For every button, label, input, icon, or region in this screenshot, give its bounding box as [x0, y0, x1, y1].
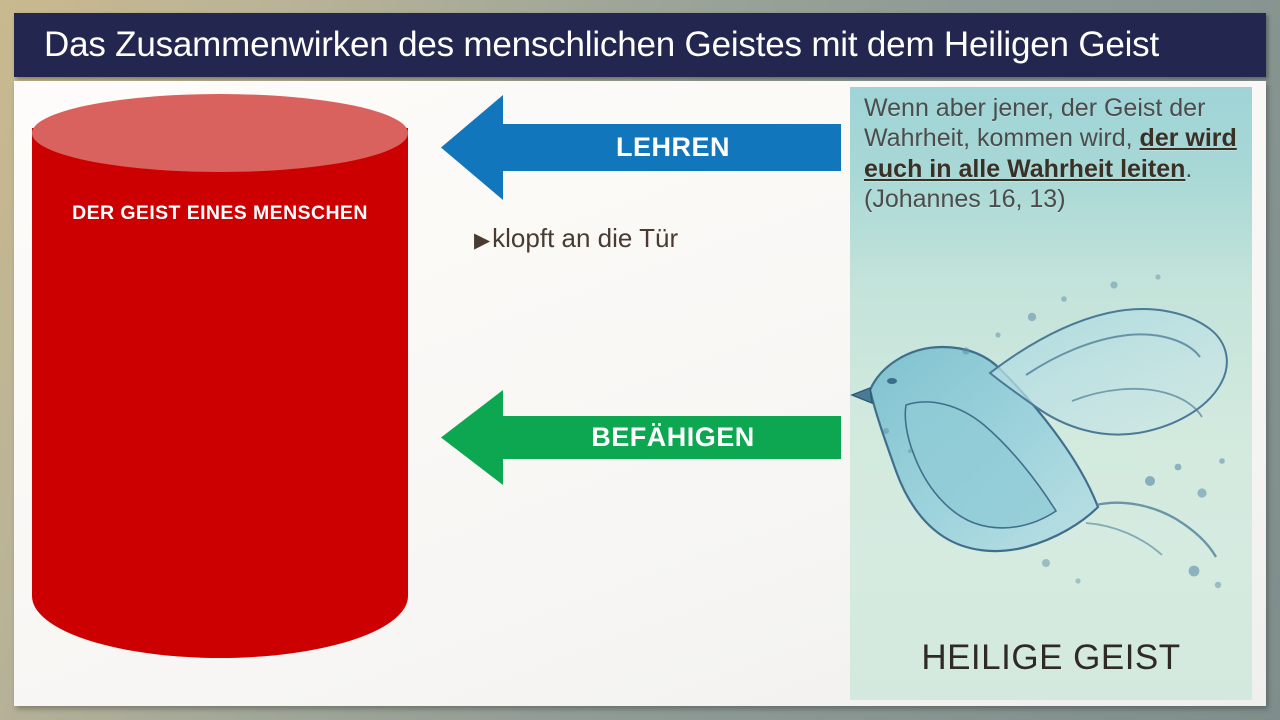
slide-title-bar: Das Zusammenwirken des menschlichen Geis… — [14, 13, 1266, 77]
arrow-lehren: LEHREN — [441, 95, 841, 200]
left-arrow-icon — [441, 95, 841, 200]
human-spirit-cylinder: DER GEIST EINES MENSCHEN — [32, 94, 408, 689]
arrow-befaehigen: BEFÄHIGEN — [441, 390, 841, 485]
bullet-marker-icon: ▶ — [474, 230, 490, 251]
bible-quote: Wenn aber jener, der Geist der Wahrheit,… — [864, 93, 1242, 214]
holy-spirit-picture-panel: Wenn aber jener, der Geist der Wahrheit,… — [850, 87, 1252, 700]
water-splash-dove-icon — [850, 255, 1252, 615]
water-dove-image — [850, 255, 1252, 615]
slide-root: Das Zusammenwirken des menschlichen Geis… — [0, 0, 1280, 720]
picture-caption: HEILIGE GEIST — [850, 638, 1252, 678]
left-arrow-icon — [441, 390, 841, 485]
cylinder-top-ellipse — [32, 94, 408, 172]
bullet-text: klopft an die Tür — [492, 223, 678, 254]
bullet-klopft: ▶ klopft an die Tür — [474, 223, 678, 254]
slide-content-area: DER GEIST EINES MENSCHEN LEHREN ▶ klopft… — [14, 81, 1266, 706]
page-title: Das Zusammenwirken des menschlichen Geis… — [44, 25, 1159, 65]
cylinder-label: DER GEIST EINES MENSCHEN — [32, 202, 408, 225]
